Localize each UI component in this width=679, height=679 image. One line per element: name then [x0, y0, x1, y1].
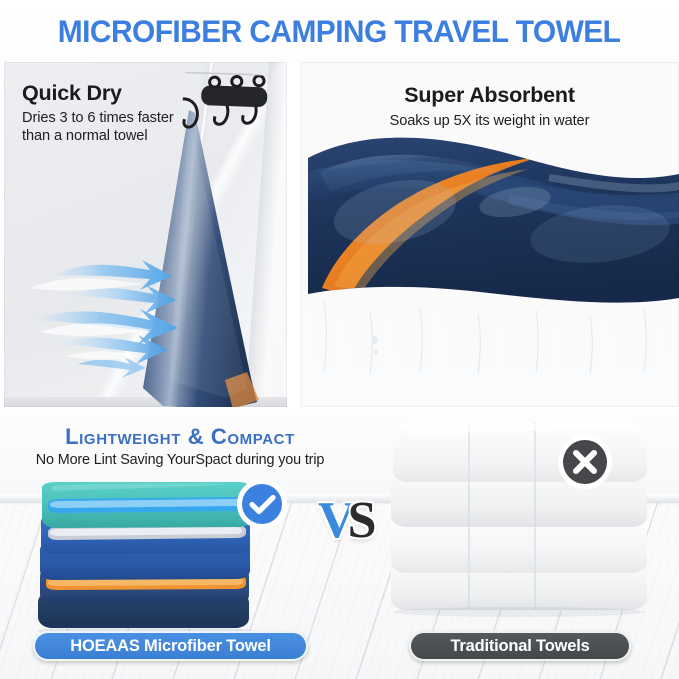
- pill-traditional-towels[interactable]: Traditional Towels: [409, 631, 631, 661]
- pill-hoeaas-microfiber-towel[interactable]: HOEAAS Microfiber Towel: [33, 631, 308, 661]
- comparison-subheading: No More Lint Saving YourSpact during you…: [20, 452, 340, 468]
- airflow-arrows-icon: [26, 252, 216, 382]
- product-infographic: MICROFIBER CAMPING TRAVEL TOWEL: [0, 0, 679, 679]
- list-item: [42, 482, 250, 528]
- versus-label: VS: [318, 495, 374, 547]
- feature-panels-row: Quick Dry Dries 3 to 6 times faster than…: [0, 62, 679, 412]
- quick-dry-body-line1: Dries 3 to 6 times faster: [22, 109, 174, 128]
- header-banner: MICROFIBER CAMPING TRAVEL TOWEL: [0, 0, 679, 62]
- versus-s: S: [348, 492, 375, 549]
- panel-super-absorbent: Super Absorbent Soaks up 5X its weight i…: [300, 62, 679, 407]
- wall-hook-rack-icon: [179, 67, 284, 149]
- page-title: MICROFIBER CAMPING TRAVEL TOWEL: [58, 13, 621, 50]
- panel-quick-dry: Quick Dry Dries 3 to 6 times faster than…: [4, 62, 287, 407]
- quick-dry-caption: Quick Dry Dries 3 to 6 times faster than…: [22, 82, 174, 146]
- quick-dry-body-line2: than a normal towel: [22, 127, 174, 146]
- x-badge-icon: [557, 434, 613, 490]
- super-absorbent-body: Soaks up 5X its weight in water: [300, 112, 679, 131]
- quick-dry-heading: Quick Dry: [22, 82, 174, 106]
- super-absorbent-caption: Super Absorbent Soaks up 5X its weight i…: [300, 84, 679, 130]
- comparison-caption: Lightweight & Compact No More Lint Savin…: [20, 424, 340, 468]
- super-absorbent-heading: Super Absorbent: [300, 84, 679, 108]
- microfiber-towel-stack: [30, 482, 250, 632]
- check-badge-icon: [236, 478, 288, 530]
- comparison-heading: Lightweight & Compact: [20, 424, 340, 450]
- traditional-towel-stack: [385, 422, 655, 618]
